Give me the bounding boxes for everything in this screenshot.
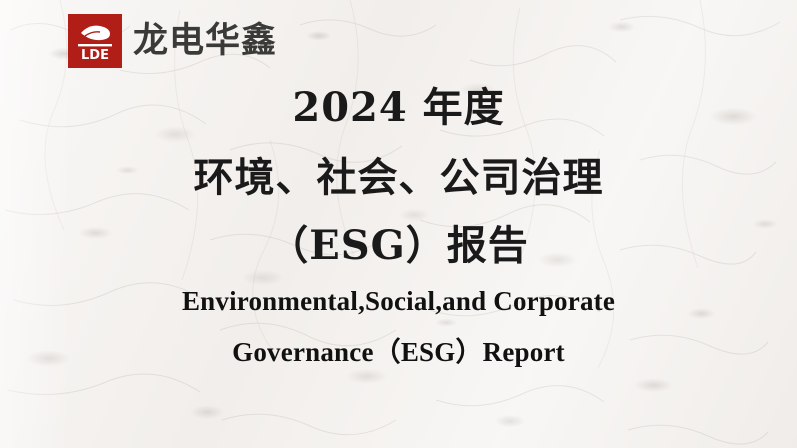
title-chinese-line-2: 环境、社会、公司治理 xyxy=(0,158,797,198)
company-logo: LDE 龙电华鑫 xyxy=(68,14,277,68)
lde-logo-mark-icon: LDE xyxy=(68,14,122,68)
logo-wordmark: 龙电华鑫 xyxy=(133,24,277,59)
title-chinese-line-3: （ESG）报告 xyxy=(0,226,797,266)
title-chinese-line-1: 2024 年度 xyxy=(0,88,797,128)
report-cover-page: LDE 龙电华鑫 2024 年度 环境、社会、公司治理 （ESG）报告 Envi… xyxy=(0,0,797,448)
svg-text:LDE: LDE xyxy=(81,48,109,63)
title-english-line-1: Environmental,Social,and Corporate xyxy=(0,288,797,315)
title-english-line-2: Governance（ESG）Report xyxy=(0,339,797,366)
cover-title-block: 2024 年度 环境、社会、公司治理 （ESG）报告 Environmental… xyxy=(0,88,797,366)
